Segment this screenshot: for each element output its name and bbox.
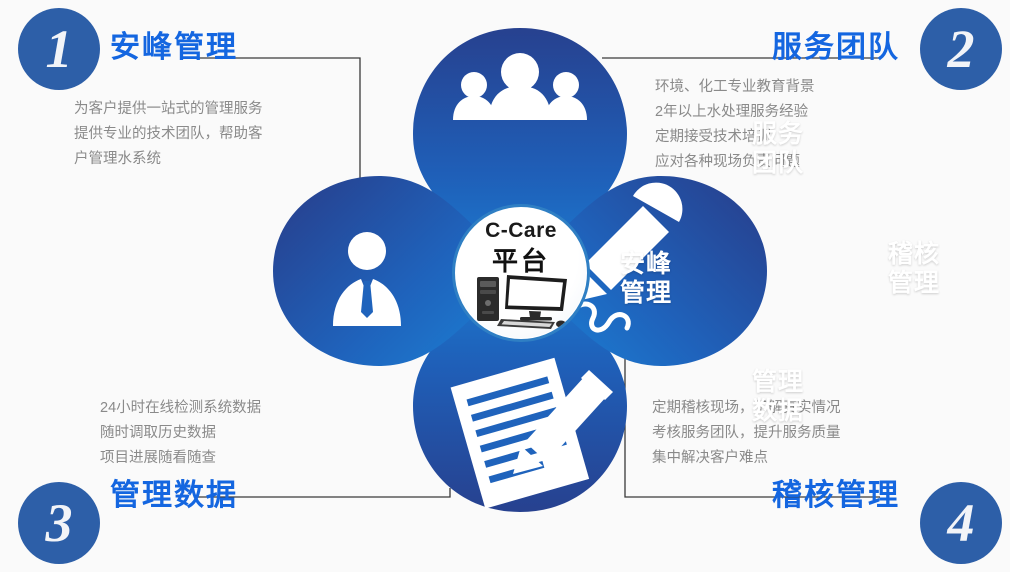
step-number-badge-4: 4 — [920, 482, 1002, 564]
step-number-badge-3: 3 — [18, 482, 100, 564]
center-hub: C-Care 平台 — [452, 204, 590, 342]
petal-label-top: 服务 团队 — [733, 120, 823, 178]
body-line: 随时调取历史数据 — [100, 421, 261, 446]
desktop-computer-icon — [471, 269, 571, 331]
section-heading-4: 稽核管理 — [772, 470, 900, 514]
infographic-canvas: 1 2 3 4 安峰管理 服务团队 管理数据 稽核管理 为客户提供一站式的管理服… — [0, 0, 1010, 572]
petal-label-right: 稽核 管理 — [869, 240, 959, 298]
petal-label-left: 安峰 管理 — [601, 250, 691, 308]
body-line: 为客户提供一站式的管理服务 — [74, 97, 263, 122]
petal-label-bottom: 管理 数据 — [733, 368, 823, 426]
section-heading-3: 管理数据 — [110, 470, 238, 514]
body-line: 24小时在线检测系统数据 — [100, 396, 261, 421]
section-body-3: 24小时在线检测系统数据随时调取历史数据项目进展随看随查 — [100, 396, 261, 471]
hub-title: C-Care — [455, 219, 587, 243]
section-heading-2: 服务团队 — [772, 22, 900, 66]
section-body-1: 为客户提供一站式的管理服务提供专业的技术团队，帮助客户管理水系统 — [74, 97, 263, 172]
step-number-badge-1: 1 — [18, 8, 100, 90]
body-line: 提供专业的技术团队，帮助客 — [74, 122, 263, 147]
body-line: 项目进展随看随查 — [100, 446, 261, 471]
section-heading-1: 安峰管理 — [110, 22, 238, 66]
step-number-badge-2: 2 — [920, 8, 1002, 90]
body-line: 户管理水系统 — [74, 147, 263, 172]
